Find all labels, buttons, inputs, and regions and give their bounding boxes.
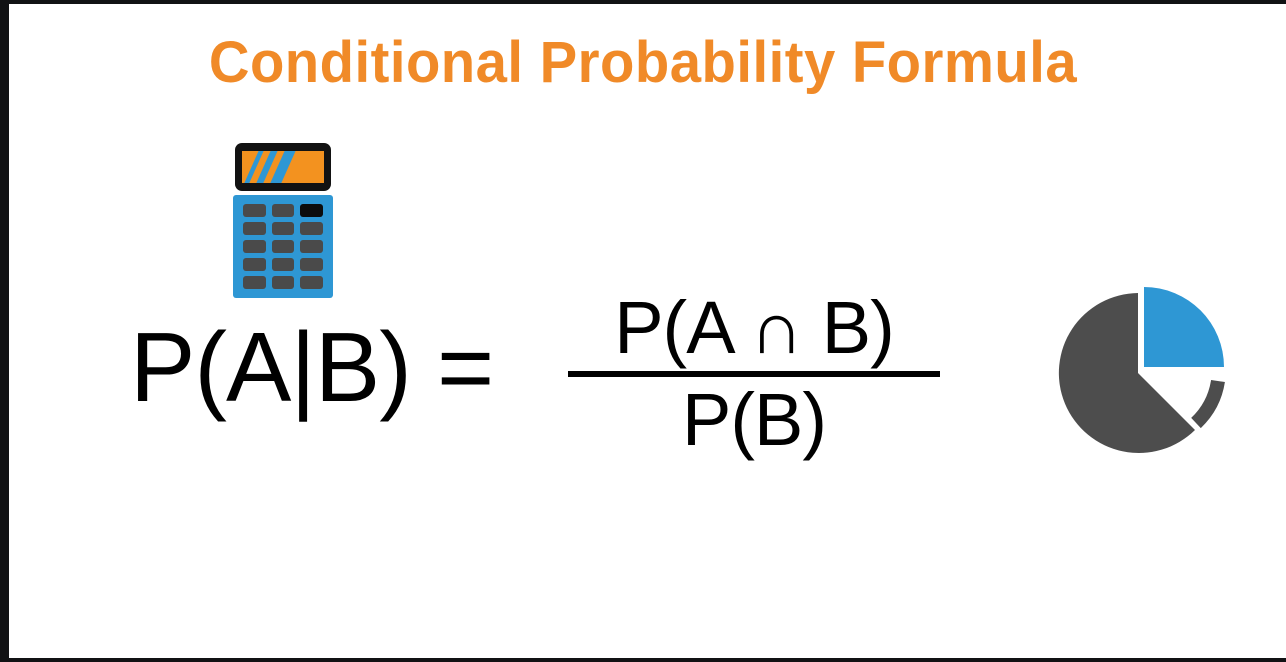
page-title: Conditional Probability Formula: [19, 30, 1266, 97]
pie-chart-icon: [1050, 285, 1232, 467]
frame-border-top: [9, 0, 1286, 4]
calculator-key: [243, 276, 266, 289]
calculator-key: [272, 204, 295, 217]
calculator-bezel: [235, 143, 331, 191]
calculator-key-accent: [300, 204, 323, 217]
calculator-key: [272, 258, 295, 271]
frame-border-bottom: [9, 658, 1286, 662]
calculator-key: [272, 222, 295, 235]
calculator-key: [243, 204, 266, 217]
frame-border-left: [0, 0, 9, 662]
pie-slice-highlighted: [1144, 287, 1224, 367]
formula-left-hand-side: P(A|B) =: [130, 318, 493, 416]
calculator-key: [300, 276, 323, 289]
calculator-key: [300, 222, 323, 235]
calculator-key: [243, 240, 266, 253]
calculator-key: [300, 240, 323, 253]
pie-arc-detached: [1196, 381, 1218, 423]
formula-numerator: P(A ∩ B): [568, 288, 940, 368]
calculator-key: [243, 258, 266, 271]
calculator-key: [272, 240, 295, 253]
formula-denominator: P(B): [568, 379, 940, 462]
calculator-keypad: [233, 195, 333, 298]
calculator-key: [272, 276, 295, 289]
formula-fraction: P(A ∩ B) P(B): [568, 288, 940, 462]
formula-fraction-bar: [568, 371, 940, 377]
calculator-key: [300, 258, 323, 271]
calculator-icon: [233, 143, 333, 298]
calculator-screen: [242, 151, 324, 183]
slide-canvas: Conditional Probability Formula: [0, 0, 1286, 662]
calculator-key: [243, 222, 266, 235]
